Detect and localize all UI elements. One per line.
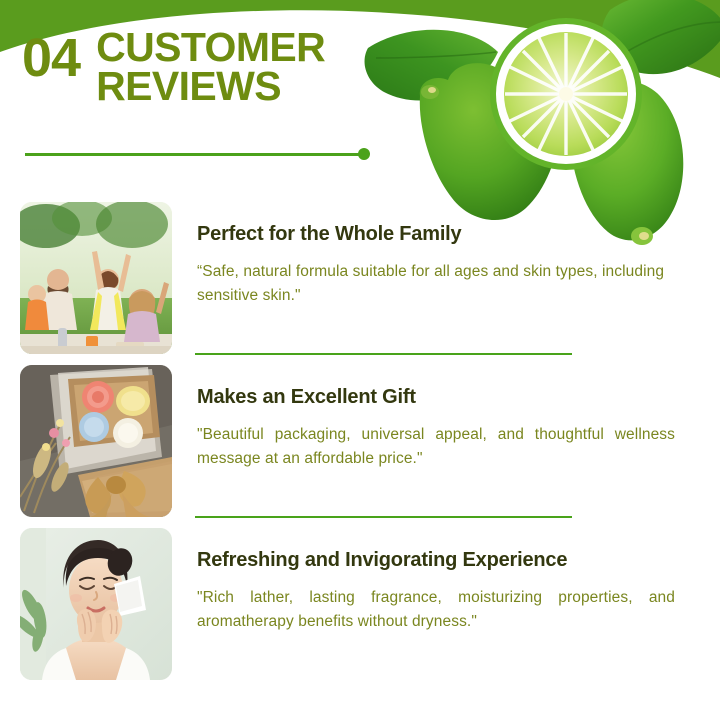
review-text-block: Refreshing and Invigorating Experience "… <box>197 522 675 634</box>
review-item: Makes an Excellent Gift "Beautiful packa… <box>0 359 720 522</box>
review-text-block: Makes an Excellent Gift "Beautiful packa… <box>197 359 675 471</box>
accent-rule-dot <box>358 148 370 160</box>
section-number: 04 <box>22 28 80 84</box>
review-thumbnail-skincare[interactable] <box>20 528 172 680</box>
review-quote: "Rich lather, lasting fragrance, moistur… <box>197 586 675 634</box>
review-heading: Refreshing and Invigorating Experience <box>197 548 675 572</box>
review-quote: "Beautiful packaging, universal appeal, … <box>197 423 675 471</box>
woman-skincare-image <box>20 528 172 680</box>
review-heading: Makes an Excellent Gift <box>197 385 675 409</box>
page-title-line-2: REVIEWS <box>96 67 325 106</box>
review-divider <box>195 353 572 355</box>
reviews-list: Perfect for the Whole Family “Safe, natu… <box>0 196 720 685</box>
review-item: Perfect for the Whole Family “Safe, natu… <box>0 196 720 359</box>
review-thumbnail-family[interactable] <box>20 202 172 354</box>
soap-gift-box-image <box>20 365 172 517</box>
review-text-block: Perfect for the Whole Family “Safe, natu… <box>197 196 675 308</box>
review-thumbnail-gift[interactable] <box>20 365 172 517</box>
slide-canvas: 04 CUSTOMER REVIEWS <box>0 0 720 720</box>
page-title: CUSTOMER REVIEWS <box>96 28 325 105</box>
review-item: Refreshing and Invigorating Experience "… <box>0 522 720 685</box>
review-divider <box>195 516 572 518</box>
review-quote: “Safe, natural formula suitable for all … <box>197 260 675 308</box>
section-title-block: 04 CUSTOMER REVIEWS <box>22 28 452 105</box>
accent-rule-line <box>25 153 363 156</box>
family-picnic-image <box>20 202 172 354</box>
title-accent-rule <box>25 148 370 160</box>
review-heading: Perfect for the Whole Family <box>197 222 675 246</box>
